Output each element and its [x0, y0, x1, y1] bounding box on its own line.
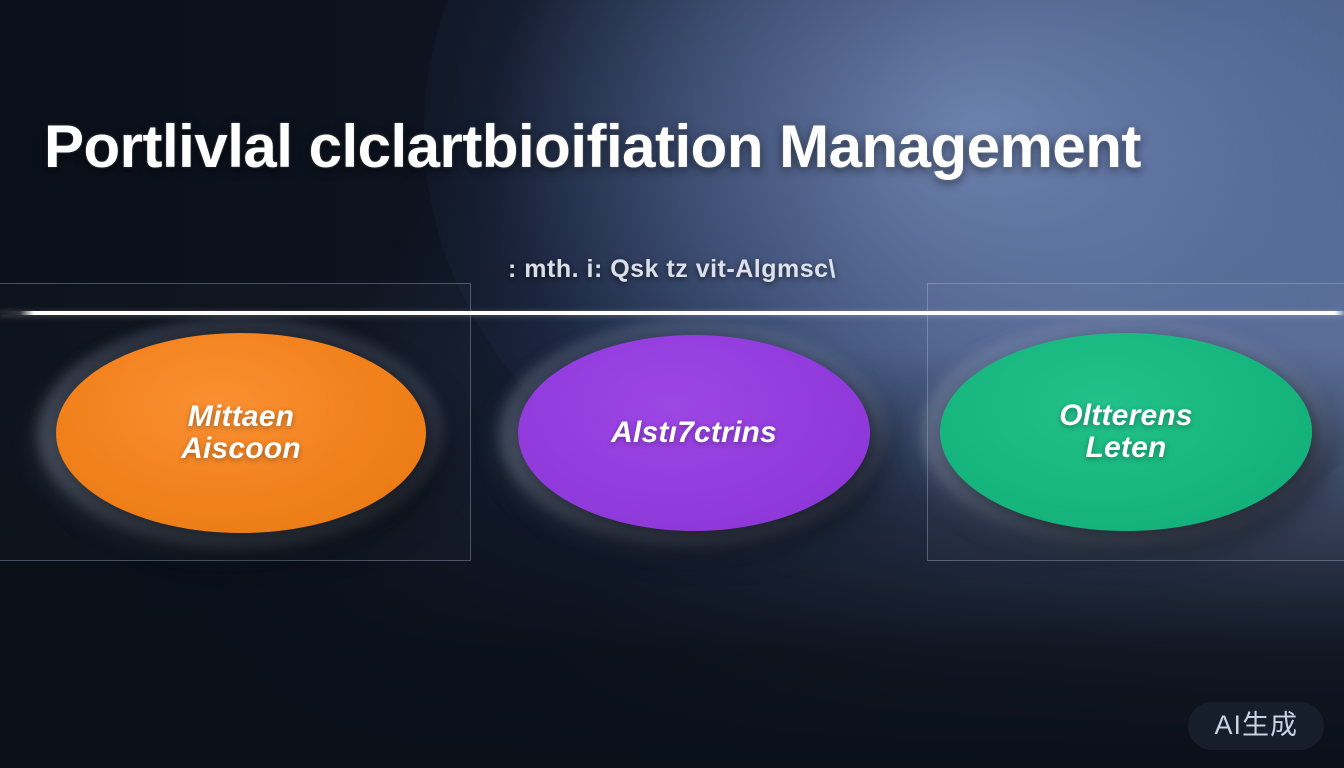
- node-purple-label-line-1: Alstı7ctrins: [611, 417, 777, 449]
- node-orange-label-line-2: Aiscoon: [181, 433, 301, 465]
- slide-canvas: Portlivlal clclartbioifiation Management…: [0, 0, 1344, 768]
- node-orange-label: Mittaen Aiscoon: [163, 401, 319, 465]
- node-orange-label-line-1: Mittaen: [181, 401, 301, 433]
- node-purple-label: Alstı7ctrins: [593, 417, 795, 449]
- page-subtitle: : mth. i: Qsk tz vit-Algmsc\: [0, 255, 1344, 284]
- node-purple[interactable]: Alstı7ctrins: [518, 335, 870, 531]
- node-green-label-line-2: Leten: [1059, 432, 1193, 464]
- node-green-label-line-1: Oltterens: [1059, 400, 1193, 432]
- node-orange[interactable]: Mittaen Aiscoon: [56, 333, 426, 533]
- page-title: Portlivlal clclartbioifiation Management: [44, 112, 1304, 181]
- horizontal-rule: [0, 311, 1344, 315]
- node-green[interactable]: Oltterens Leten: [940, 333, 1312, 531]
- node-green-label: Oltterens Leten: [1041, 400, 1211, 464]
- ai-generated-watermark: AI生成: [1188, 702, 1324, 750]
